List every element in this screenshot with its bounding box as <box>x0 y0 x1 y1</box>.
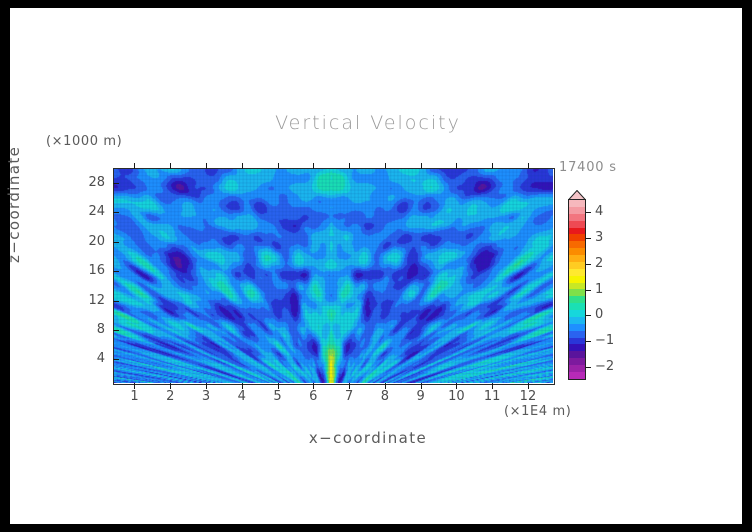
y-tick-label: 24 <box>77 204 105 219</box>
colorbar-band <box>569 221 585 228</box>
colorbar-band <box>569 214 585 221</box>
colorbar-label: −1 <box>595 333 614 348</box>
colorbar-tick <box>586 315 591 316</box>
colorbar-label: 1 <box>595 282 603 297</box>
colorbar-band <box>569 262 585 269</box>
y-axis-title: z−coordinate <box>5 146 23 263</box>
colorbar-band <box>569 255 585 262</box>
colorbar-band <box>569 234 585 241</box>
colorbar-band <box>569 241 585 248</box>
y-tick-label: 20 <box>77 234 105 249</box>
colorbar-band <box>569 317 585 324</box>
colorbar-tick <box>586 238 591 239</box>
y-tick <box>113 183 119 184</box>
x-tick <box>170 163 171 169</box>
colorbar-band <box>569 351 585 358</box>
colorbar-band <box>569 200 585 207</box>
y-tick <box>113 301 119 302</box>
colorbar-label: 4 <box>595 204 603 219</box>
colorbar-band <box>569 283 585 290</box>
x-axis-title: x−coordinate <box>2 429 734 447</box>
y-tick-label: 16 <box>77 263 105 278</box>
colorbar-band <box>569 324 585 331</box>
colorbar-band <box>569 296 585 303</box>
x-tick-label: 10 <box>441 389 471 404</box>
colorbar-band <box>569 269 585 276</box>
figure-page: Vertical Velocity (×1000 m) 17400 s 1234… <box>10 8 742 524</box>
colorbar-tick <box>586 264 591 265</box>
chart-title: Vertical Velocity <box>2 112 734 134</box>
x-tick-label: 8 <box>370 389 400 404</box>
x-tick <box>421 163 422 169</box>
x-tick-label: 5 <box>263 389 293 404</box>
x-tick-label: 6 <box>298 389 328 404</box>
x-tick <box>492 163 493 169</box>
y-tick <box>113 212 119 213</box>
colorbar-gradient <box>568 199 586 380</box>
x-tick <box>134 163 135 169</box>
x-tick <box>242 163 243 169</box>
x-tick-label: 2 <box>155 389 185 404</box>
x-tick-label: 4 <box>227 389 257 404</box>
x-tick-label: 11 <box>477 389 507 404</box>
x-tick-label: 3 <box>191 389 221 404</box>
x-tick-label: 12 <box>513 389 543 404</box>
x-tick <box>278 163 279 169</box>
colorbar-label: 3 <box>595 230 603 245</box>
colorbar-band <box>569 303 585 310</box>
y-tick-label: 8 <box>77 322 105 337</box>
colorbar-band <box>569 207 585 214</box>
colorbar-tick <box>586 341 591 342</box>
y-tick <box>113 271 119 272</box>
y-tick <box>113 359 119 360</box>
x-tick <box>313 163 314 169</box>
heatmap-plot-area <box>113 168 553 383</box>
x-tick-label: 9 <box>406 389 436 404</box>
y-axis-unit-label: (×1000 m) <box>46 134 122 149</box>
colorbar-tick <box>586 290 591 291</box>
colorbar-tick <box>586 367 591 368</box>
y-tick-label: 4 <box>77 351 105 366</box>
colorbar-band <box>569 358 585 365</box>
colorbar-band <box>569 365 585 372</box>
x-axis-unit-label: (×1E4 m) <box>504 404 571 419</box>
y-tick <box>113 242 119 243</box>
colorbar-band <box>569 372 585 379</box>
colorbar-band <box>569 276 585 283</box>
colorbar-band <box>569 289 585 296</box>
y-tick-label: 12 <box>77 293 105 308</box>
x-tick <box>385 163 386 169</box>
timestamp-annotation: 17400 s <box>559 160 617 175</box>
x-tick-label: 1 <box>119 389 149 404</box>
colorbar-band <box>569 310 585 317</box>
x-tick <box>456 163 457 169</box>
x-tick <box>206 163 207 169</box>
y-tick-label: 28 <box>77 175 105 190</box>
x-tick-label: 7 <box>334 389 364 404</box>
colorbar-label: −2 <box>595 359 614 374</box>
y-tick <box>113 330 119 331</box>
colorbar: 43210−1−2 <box>568 190 648 390</box>
colorbar-band <box>569 331 585 338</box>
colorbar-label: 2 <box>595 256 603 271</box>
colorbar-tick <box>586 212 591 213</box>
x-tick <box>349 163 350 169</box>
colorbar-label: 0 <box>595 307 603 322</box>
x-tick <box>528 163 529 169</box>
colorbar-band <box>569 344 585 351</box>
figure-frame: Vertical Velocity (×1000 m) 17400 s 1234… <box>0 0 752 532</box>
colorbar-band <box>569 228 585 235</box>
colorbar-band <box>569 338 585 345</box>
colorbar-band <box>569 248 585 255</box>
heatmap-canvas <box>113 168 553 383</box>
